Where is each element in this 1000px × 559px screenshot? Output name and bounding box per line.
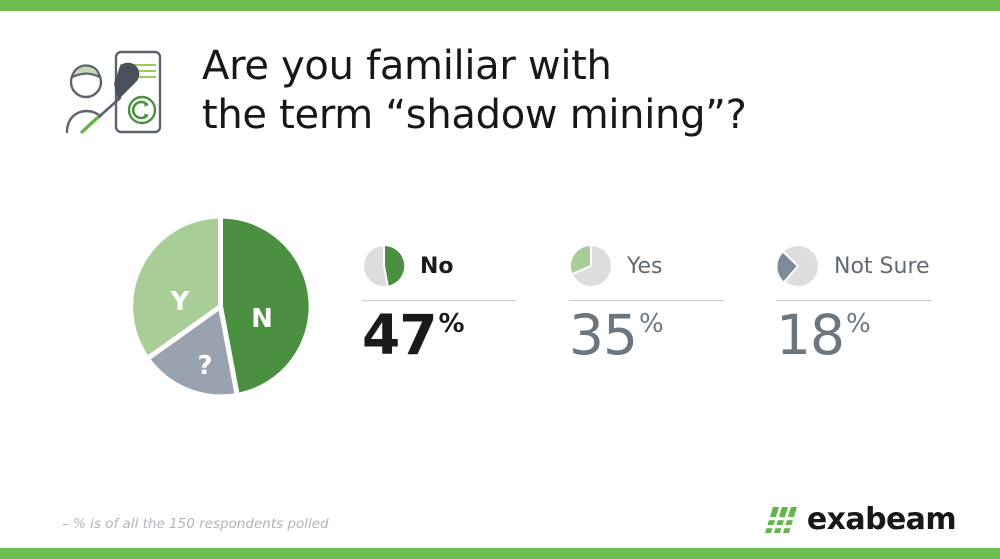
stat-number-yes: 35 [569,309,637,361]
stat-card-yes: Yes 35 % [569,240,724,361]
exabeam-logo: exabeam [765,502,956,537]
mini-pie-yes-icon [569,244,613,288]
stat-divider-not-sure [776,300,931,301]
stat-label-not-sure: Not Sure [834,254,930,279]
stat-value-not-sure: 18 % [776,305,931,361]
exabeam-wordmark: exabeam [807,502,956,537]
stat-number-not-sure: 18 [776,309,844,361]
mini-pie-not-sure-icon [776,244,820,288]
pie-slice-label-no: N [251,304,273,334]
exabeam-logo-mark-icon [765,507,799,533]
stats-row: No 47 % Yes [362,240,931,361]
stat-head-yes: Yes [569,240,724,292]
stat-percent-sign-no: % [439,311,465,337]
stat-divider-no [362,300,517,301]
pie-slice-label-not-sure: ? [197,351,212,381]
mini-pie-no-icon [362,244,406,288]
stat-value-yes: 35 % [569,305,724,361]
top-accent-bar [0,0,1000,11]
page-title: Are you familiar with the term “shadow m… [202,42,747,140]
pie-chart: N Y ? [128,214,313,399]
stat-label-no: No [420,254,454,279]
stat-percent-sign-yes: % [639,311,664,337]
shadow-mining-icon [58,44,174,140]
footnote: – % is of all the 150 respondents polled [62,516,329,532]
stat-value-no: 47 % [362,305,517,361]
bottom-accent-bar [0,548,1000,559]
stat-label-yes: Yes [627,254,663,279]
header: Are you familiar with the term “shadow m… [58,42,747,140]
infographic-page: Are you familiar with the term “shadow m… [0,0,1000,559]
stat-card-not-sure: Not Sure 18 % [776,240,931,361]
stat-card-no: No 47 % [362,240,517,361]
stat-head-not-sure: Not Sure [776,240,931,292]
stat-divider-yes [569,300,724,301]
stat-head-no: No [362,240,517,292]
stat-number-no: 47 [362,309,437,361]
pie-slice-label-yes: Y [170,287,191,317]
stat-percent-sign-not-sure: % [846,311,871,337]
